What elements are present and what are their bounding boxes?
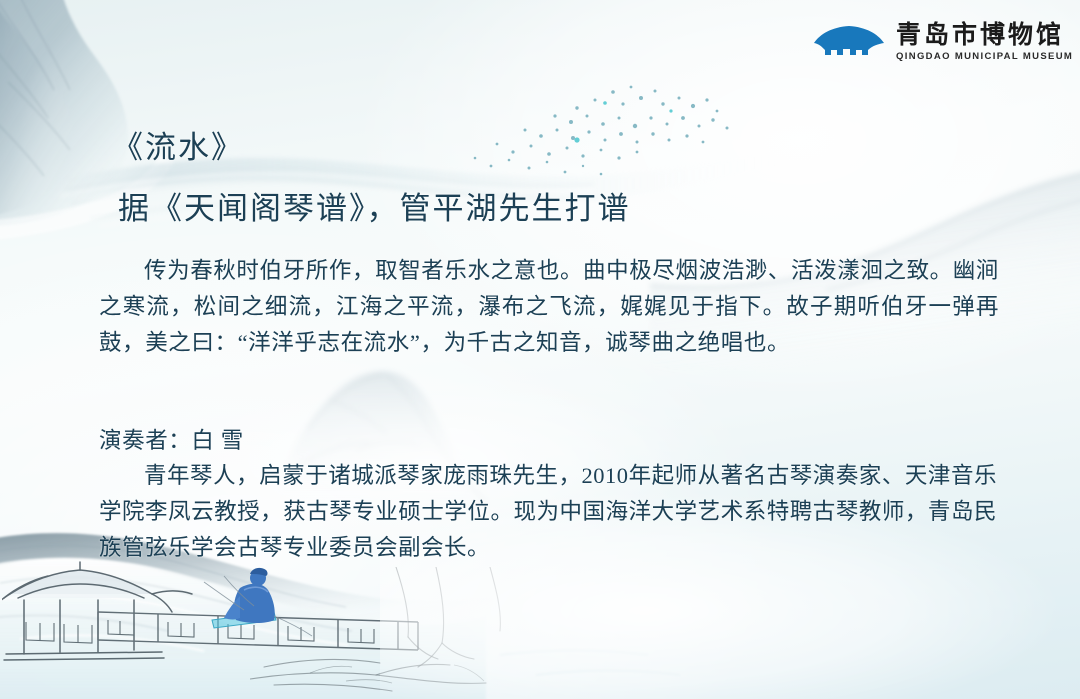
performer-label: 演奏者：白 雪 xyxy=(99,423,244,455)
presentation-slide: 青岛市博物馆 QINGDAO MUNICIPAL MUSEUM 《流水》 据《天… xyxy=(0,0,1080,699)
performer-biography: 青年琴人，启蒙于诸城派琴家庞雨珠先生，2010年起师从著名古琴演奏家、天津音乐学… xyxy=(99,458,997,566)
piece-title: 《流水》 xyxy=(112,122,244,167)
piece-introduction: 传为春秋时伯牙所作，取智者乐水之意也。曲中极尽烟波浩渺、活泼漾洄之致。幽涧之寒流… xyxy=(99,253,999,361)
slide-content: 《流水》 据《天闻阁琴谱》，管平湖先生打谱 传为春秋时伯牙所作，取智者乐水之意也… xyxy=(0,0,1080,699)
piece-subtitle: 据《天闻阁琴谱》，管平湖先生打谱 xyxy=(118,183,631,228)
